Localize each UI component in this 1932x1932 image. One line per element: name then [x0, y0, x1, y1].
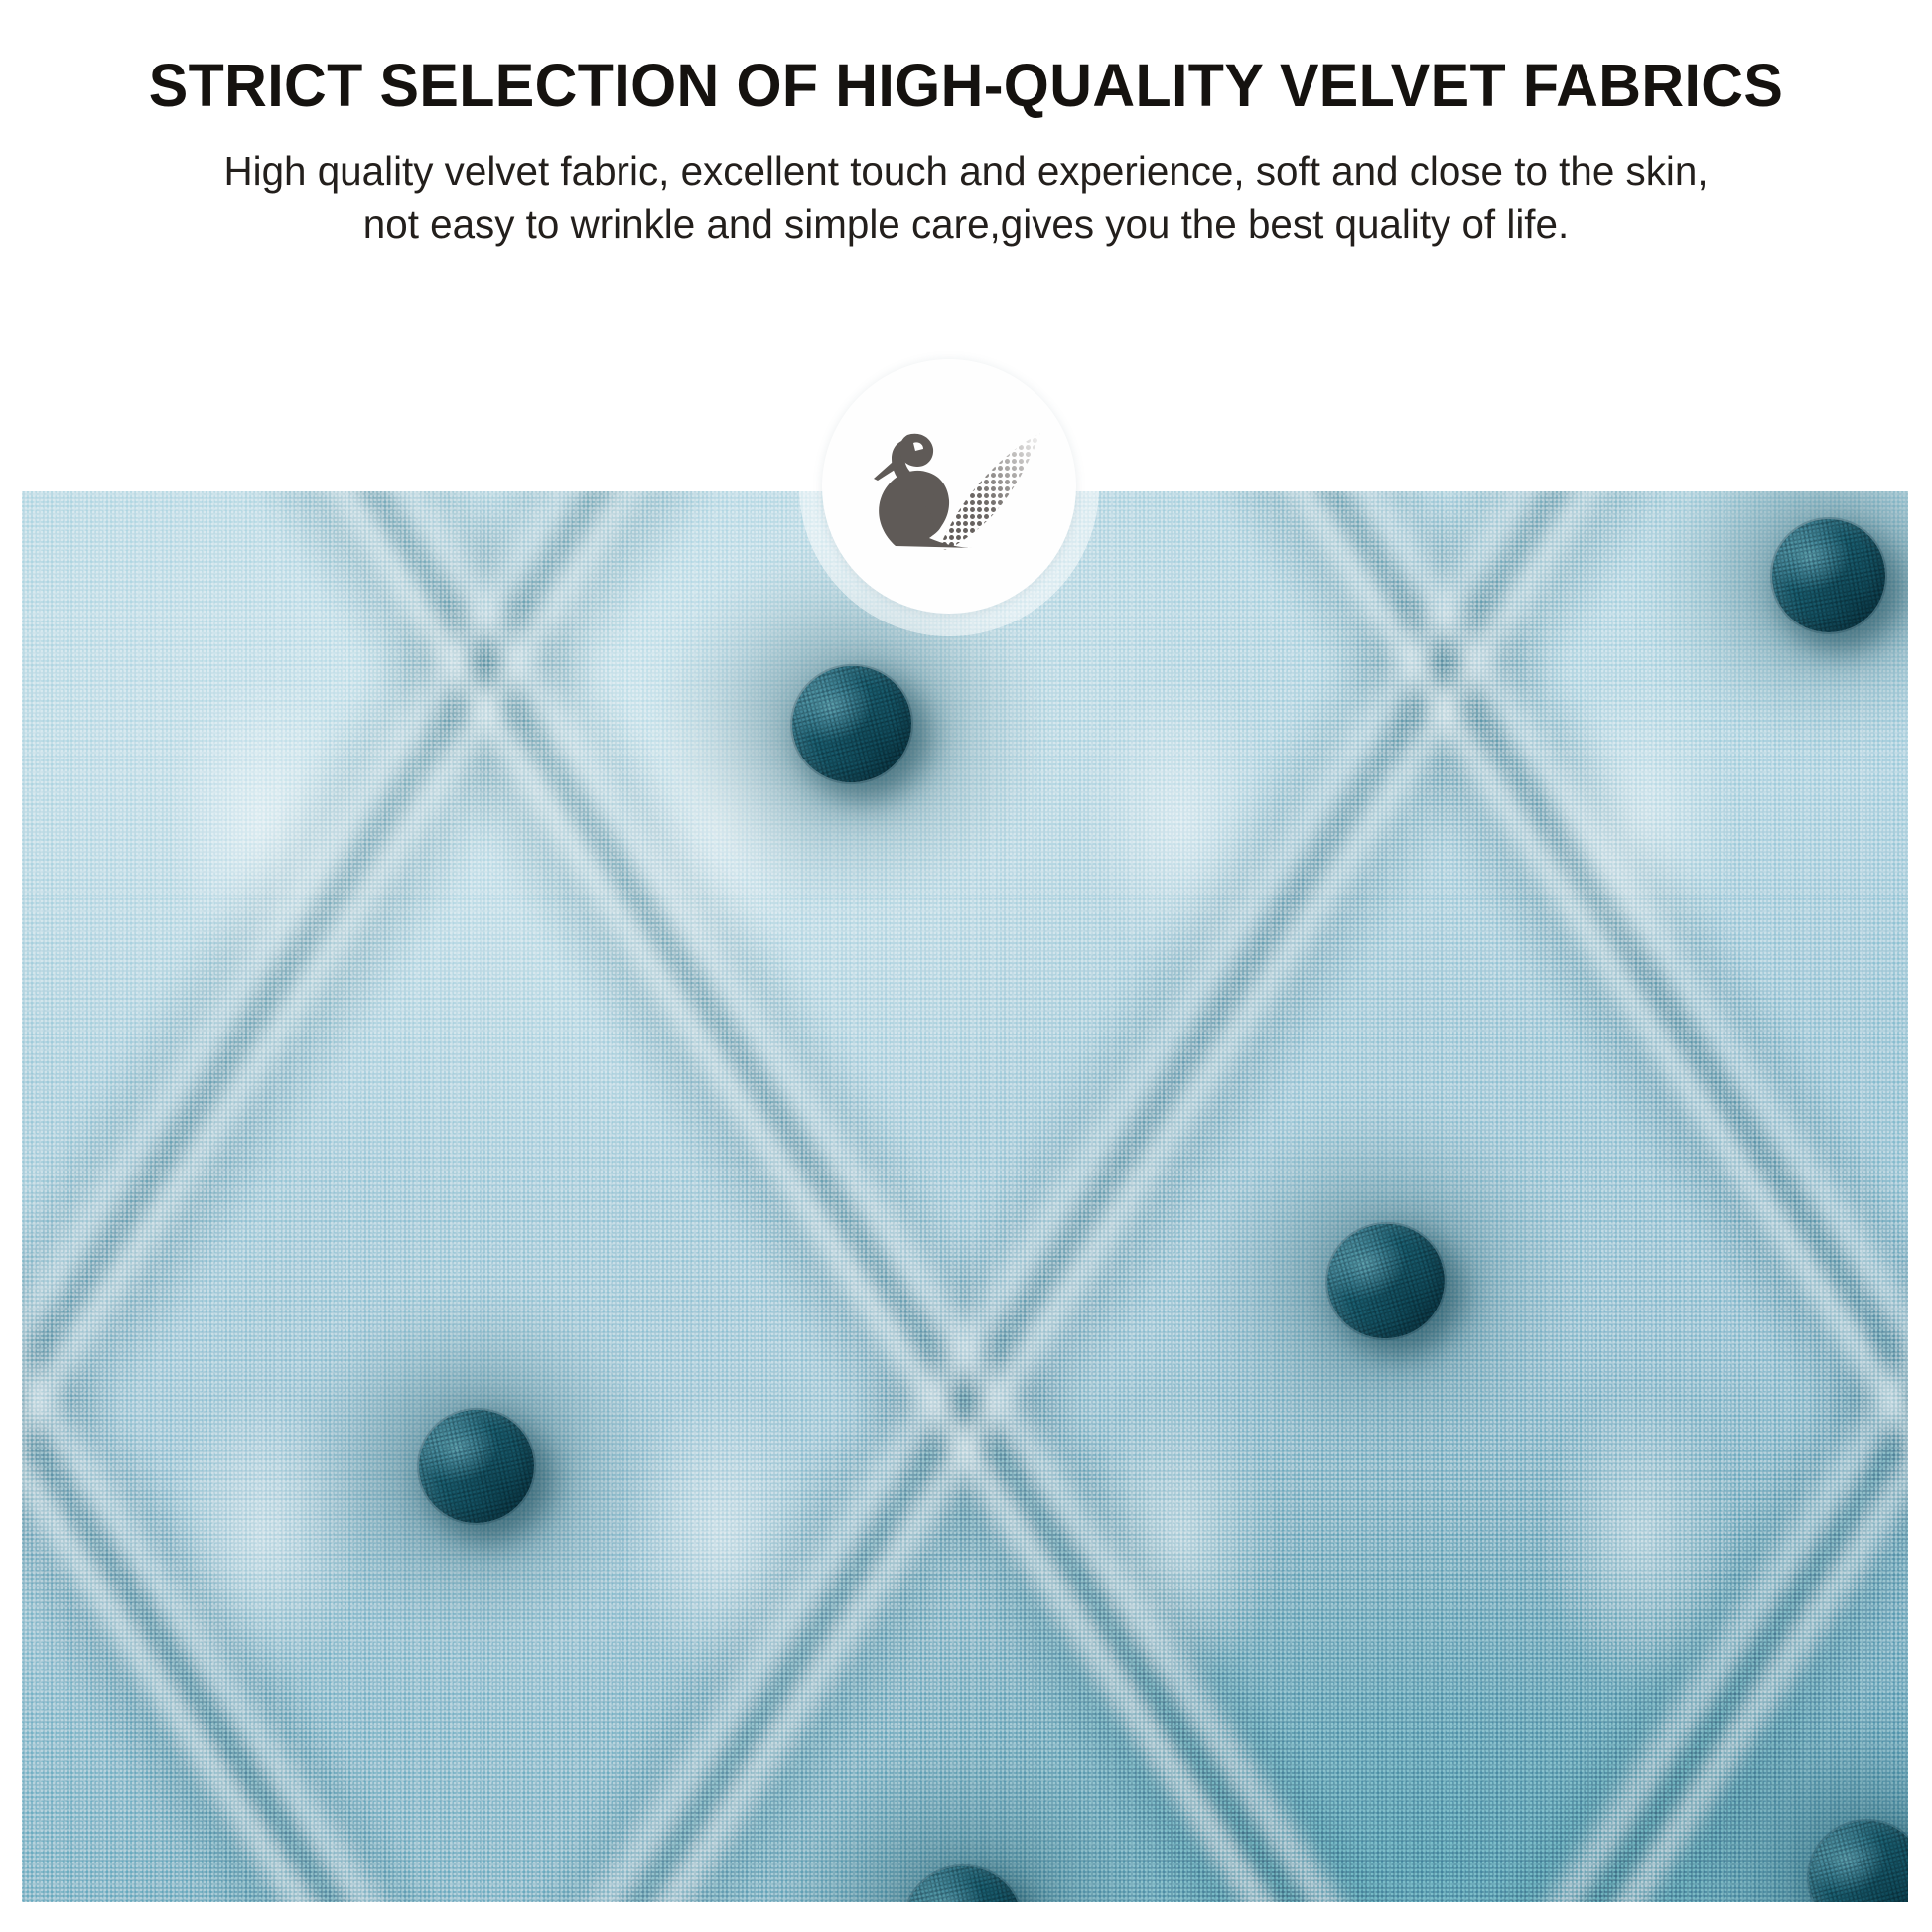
banner-header: STRICT SELECTION OF HIGH-QUALITY VELVET … — [0, 0, 1932, 251]
page-title: STRICT SELECTION OF HIGH-QUALITY VELVET … — [29, 0, 1903, 116]
subtitle-text: High quality velvet fabric, excellent to… — [217, 116, 1714, 251]
product-photo: Close-up of light blue diamond-tufted ve… — [22, 491, 1908, 1902]
brand-logo-badge: Swan brand logo — [800, 338, 1098, 635]
logo-alt-text: Swan brand logo — [800, 338, 801, 339]
product-feature-banner: STRICT SELECTION OF HIGH-QUALITY VELVET … — [0, 0, 1932, 1932]
swan-icon — [844, 381, 1054, 592]
